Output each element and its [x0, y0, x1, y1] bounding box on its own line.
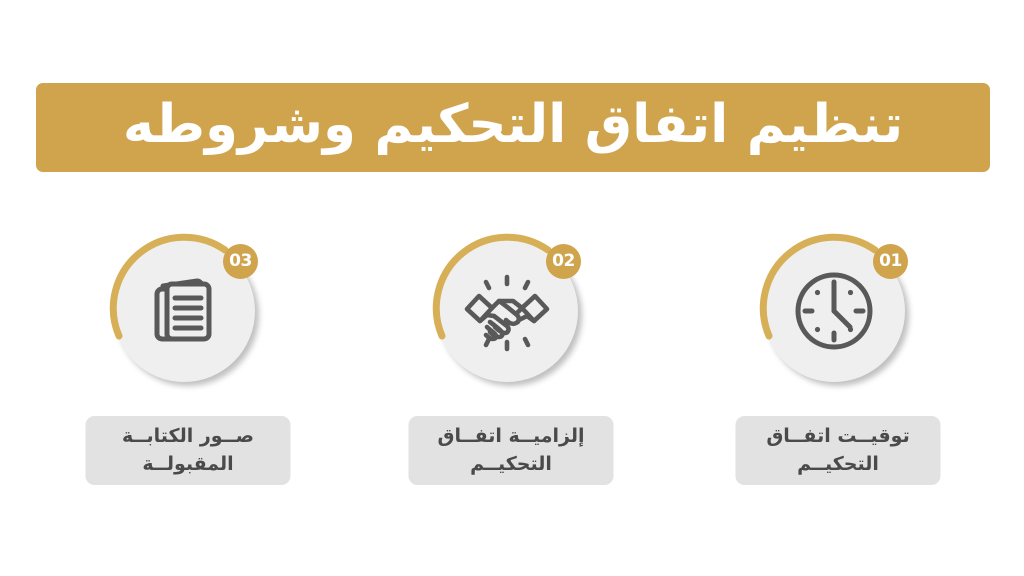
- card-label-03: صــور الكتابــة المقبولــة: [122, 423, 254, 478]
- label-plate-01: توقيــت اتفــاق التحكيــم: [736, 416, 941, 485]
- label-line-1: توقيــت اتفــاق: [766, 423, 909, 451]
- medallion-01: 01: [755, 232, 921, 398]
- card-03[interactable]: 03 صــور الكتابــة المقبولــة: [58, 232, 318, 502]
- cards-row: 03 صــور الكتابــة المقبولــة: [0, 232, 1024, 502]
- step-number: 01: [879, 253, 902, 270]
- medallion-02: 02: [428, 232, 594, 398]
- card-label-02: إلزاميــة اتفــاق التحكيــم: [437, 423, 584, 478]
- infographic-page: تنظيم اتفاق التحكيم وشروطه: [0, 0, 1024, 576]
- title-banner: تنظيم اتفاق التحكيم وشروطه: [36, 83, 990, 172]
- label-line-2: التحكيــم: [766, 451, 909, 479]
- label-plate-02: إلزاميــة اتفــاق التحكيــم: [409, 416, 614, 485]
- step-badge-03: 03: [223, 244, 258, 279]
- step-badge-01: 01: [873, 244, 908, 279]
- step-number: 03: [229, 253, 252, 270]
- label-line-2: المقبولــة: [122, 451, 254, 479]
- card-02[interactable]: 02 إلزاميــة اتفــاق التحكيــم: [381, 232, 641, 502]
- card-label-01: توقيــت اتفــاق التحكيــم: [766, 423, 909, 478]
- step-badge-02: 02: [546, 244, 581, 279]
- label-line-1: إلزاميــة اتفــاق: [437, 423, 584, 451]
- label-line-1: صــور الكتابــة: [122, 423, 254, 451]
- page-title: تنظيم اتفاق التحكيم وشروطه: [123, 98, 903, 151]
- medallion-03: 03: [105, 232, 271, 398]
- step-number: 02: [552, 253, 575, 270]
- card-01[interactable]: 01 توقيــت اتفــاق التحكيــم: [708, 232, 968, 502]
- label-plate-03: صــور الكتابــة المقبولــة: [86, 416, 291, 485]
- label-line-2: التحكيــم: [437, 451, 584, 479]
